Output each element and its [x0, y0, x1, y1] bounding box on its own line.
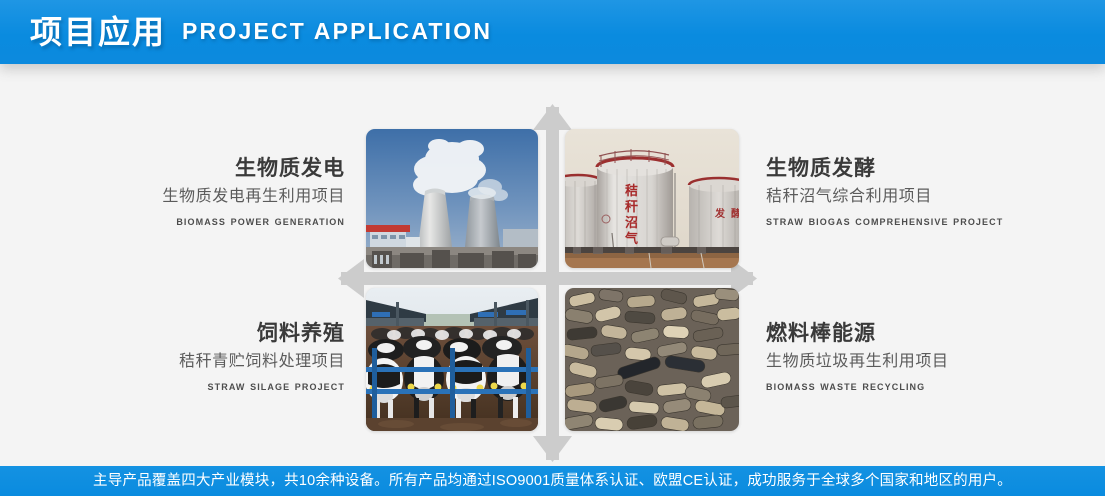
thumbnail-fuel-rod-energy[interactable] [565, 288, 739, 431]
quadrant-english: Biomass waste recycling [766, 377, 1086, 396]
thumbnail-biomass-fermentation[interactable]: 发 酵 秸 秆 [565, 129, 739, 268]
quadrant-biomass-power-generation: 生物质发电 生物质发电再生利用项目 Biomass power generati… [40, 155, 345, 231]
power-plant-photo [366, 129, 538, 268]
arrow-vertical-shaft [546, 107, 559, 460]
quadrant-subtitle: 生物质垃圾再生利用项目 [766, 350, 1086, 374]
footer-banner: 主导产品覆盖四大产业模块，共10余种设备。所有产品均通过ISO9001质量体系认… [0, 466, 1105, 496]
svg-text:沼: 沼 [625, 215, 638, 230]
quadrant-title: 生物质发酵 [766, 155, 1086, 183]
arrow-horizontal-shaft [341, 272, 753, 285]
biogas-tanks-photo: 发 酵 秸 秆 [565, 129, 739, 268]
quadrant-straw-silage: 饲料养殖 秸秆青贮饲料处理项目 Straw silage project [40, 320, 345, 396]
thumbnail-straw-silage[interactable] [366, 288, 538, 431]
quadrant-english: Biomass power generation [40, 212, 345, 231]
cattle-farm-photo [366, 288, 538, 431]
quadrant-subtitle: 秸秆沼气综合利用项目 [766, 185, 1086, 209]
tank-label-fermentation: 发 [714, 207, 726, 220]
tank-label-straw: 秸 [625, 183, 638, 198]
fuel-pellets-photo [565, 288, 739, 431]
quadrant-fuel-rod-energy: 燃料棒能源 生物质垃圾再生利用项目 Biomass waste recyclin… [766, 320, 1086, 396]
project-application-page: 项目应用 PROJECT APPLICATION [0, 0, 1105, 496]
quadrant-subtitle: 秸秆青贮饲料处理项目 [40, 350, 345, 374]
quadrant-english: Straw biogas comprehensive project [766, 212, 1086, 231]
quadrant-title: 饲料养殖 [40, 320, 345, 348]
cross-arrows-diagram [0, 0, 1105, 496]
page-subtitle: PROJECT APPLICATION [182, 20, 492, 45]
svg-text:气: 气 [625, 231, 638, 246]
quadrant-title: 燃料棒能源 [766, 320, 1086, 348]
page-title: 项目应用 [30, 16, 166, 48]
svg-text:酵: 酵 [731, 207, 739, 220]
arrow-up-icon [533, 104, 572, 130]
quadrant-subtitle: 生物质发电再生利用项目 [40, 185, 345, 209]
quadrant-title: 生物质发电 [40, 155, 345, 183]
footer-text: 主导产品覆盖四大产业模块，共10余种设备。所有产品均通过ISO9001质量体系认… [93, 474, 1012, 489]
header-title-group: 项目应用 PROJECT APPLICATION [30, 0, 492, 64]
arrow-down-icon [533, 436, 572, 462]
quadrant-english: Straw silage project [40, 377, 345, 396]
thumbnail-biomass-power-generation[interactable] [366, 129, 538, 268]
quadrant-biomass-fermentation: 生物质发酵 秸秆沼气综合利用项目 Straw biogas comprehens… [766, 155, 1086, 231]
arrow-left-icon [338, 259, 364, 298]
page-header: 项目应用 PROJECT APPLICATION [0, 0, 1105, 64]
svg-text:秆: 秆 [625, 199, 638, 214]
